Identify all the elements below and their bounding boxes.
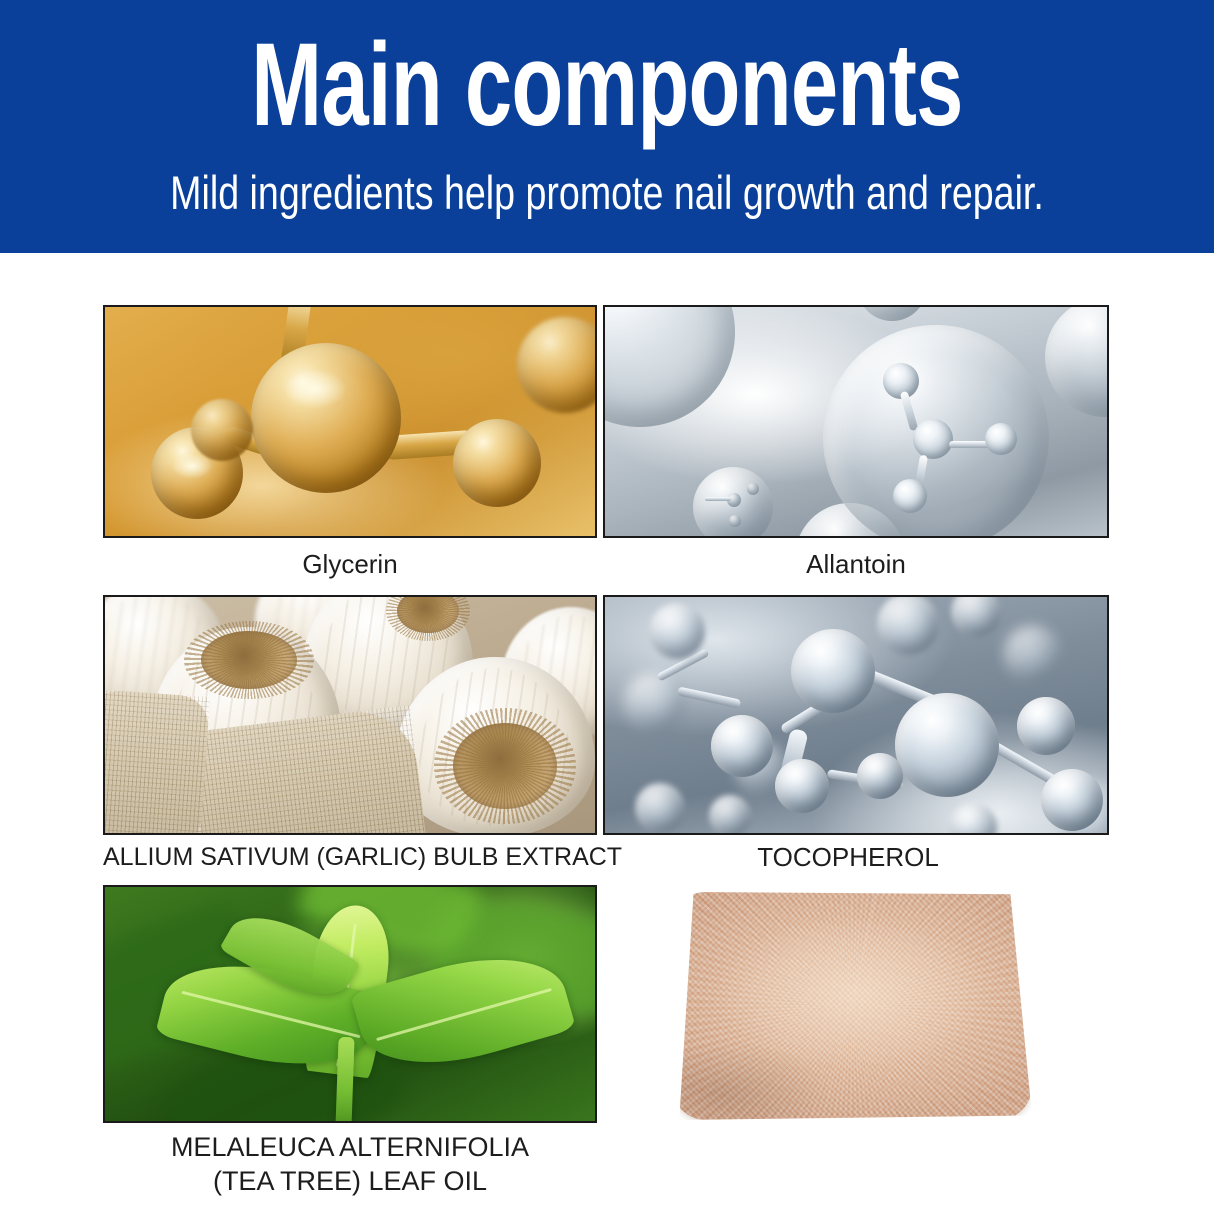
glycerin-atom-right <box>453 419 541 507</box>
allantoin-photo <box>605 307 1107 536</box>
tocopherol-atom-bottom-far-right <box>1041 769 1103 831</box>
tocopherol-atom-bg-c <box>1003 625 1061 683</box>
beige-fabric-patch <box>672 892 1032 1120</box>
tocopherol-atom-bg-a <box>623 671 685 733</box>
teatree-image-frame <box>103 885 597 1123</box>
allantoin-image-frame <box>603 305 1109 538</box>
tocopherol-caption: TOCOPHEROL <box>603 841 1093 873</box>
glycerin-photo <box>105 307 595 536</box>
allantoin-small-node-b <box>747 483 759 495</box>
teatree-photo <box>105 887 595 1121</box>
tocopherol-photo <box>605 597 1107 833</box>
garlic-root-front-left <box>201 631 297 689</box>
garlic-caption: ALLIUM SATIVUM (GARLIC) BULB EXTRACT <box>103 841 597 873</box>
glycerin-atom-center <box>251 343 401 493</box>
allantoin-molecule-node-right <box>985 423 1017 455</box>
allantoin-molecule-node-center <box>913 419 953 459</box>
teatree-caption-line2: (TEA TREE) LEAF OIL <box>103 1164 597 1198</box>
garlic-root-top-right <box>397 597 459 633</box>
glycerin-image-frame <box>103 305 597 538</box>
teatree-stem <box>335 1037 354 1121</box>
allantoin-small-node-c <box>729 515 741 527</box>
garlic-root-front-right <box>453 723 557 809</box>
tocopherol-image-frame <box>603 595 1109 835</box>
allantoin-molecule-node-bottom <box>893 479 927 513</box>
tocopherol-atom-main-upper <box>791 629 875 713</box>
glycerin-atom-mid-left <box>191 399 253 461</box>
teatree-caption: MELALEUCA ALTERNIFOLIA (TEA TREE) LEAF O… <box>103 1130 597 1198</box>
page-title: Main components <box>170 24 1044 146</box>
tocopherol-atom-bottom-mid <box>709 795 751 833</box>
tocopherol-atom-main-lower <box>895 693 999 797</box>
tocopherol-atom-bottom-left <box>635 783 685 833</box>
ingredient-item-patch <box>672 892 1032 1120</box>
garlic-photo <box>105 597 595 833</box>
tocopherol-atom-bottom-center <box>775 759 829 813</box>
allantoin-small-link-a <box>705 497 731 501</box>
tocopherol-atom-bottom-right <box>857 753 903 799</box>
teatree-caption-line1: MELALEUCA ALTERNIFOLIA <box>103 1130 597 1164</box>
tocopherol-atom-topleft <box>649 603 705 659</box>
tocopherol-atom-mid-left <box>711 715 773 777</box>
page-subtitle: Mild ingredients help promote nail growt… <box>121 166 1092 220</box>
garlic-image-frame <box>103 595 597 835</box>
allantoin-caption: Allantoin <box>603 548 1109 580</box>
garlic-burlap-fold <box>105 689 210 833</box>
glycerin-caption: Glycerin <box>103 548 597 580</box>
header-banner: Main components Mild ingredients help pr… <box>0 0 1214 253</box>
tocopherol-atom-right-edge <box>1017 697 1075 755</box>
